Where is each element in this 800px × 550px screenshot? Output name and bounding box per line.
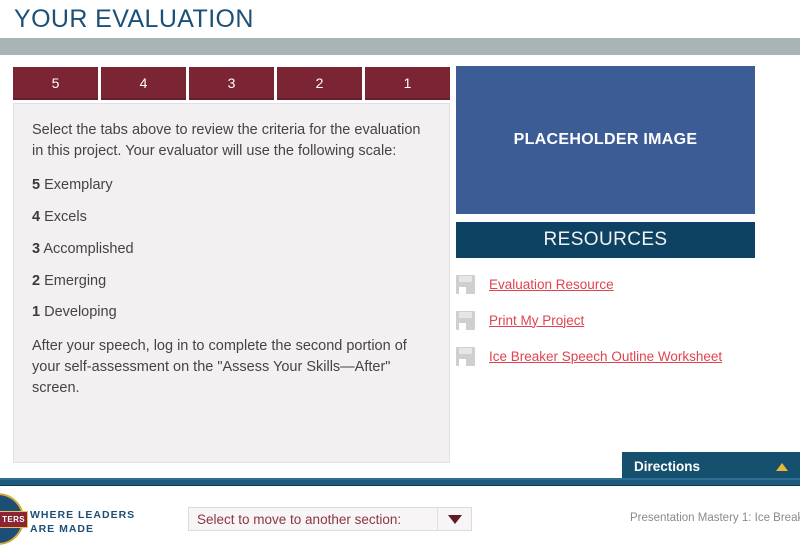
- toastmasters-logo: TERS INTERNATIONAL: [0, 493, 30, 545]
- scale-item-3: 3 Accomplished: [32, 240, 431, 259]
- scale-score-1: 1: [32, 304, 40, 320]
- floppy-disk-icon: [456, 311, 475, 330]
- page-title: YOUR EVALUATION: [14, 5, 254, 34]
- section-navigation-arrow-box[interactable]: [437, 508, 471, 530]
- scale-name-3: Accomplished: [43, 241, 133, 257]
- brand-tagline-line2: ARE MADE: [30, 522, 135, 536]
- list-item[interactable]: Print My Project: [456, 302, 786, 338]
- tab-score-2[interactable]: 2: [277, 67, 362, 100]
- scale-item-5: 5 Exemplary: [32, 176, 431, 195]
- scale-name-4: Excels: [44, 209, 87, 225]
- closing-paragraph: After your speech, log in to complete th…: [32, 336, 431, 399]
- directions-label: Directions: [634, 459, 776, 474]
- footer-divider: [0, 478, 800, 486]
- resource-link-ice-breaker-worksheet[interactable]: Ice Breaker Speech Outline Worksheet: [489, 349, 722, 364]
- tab-score-1[interactable]: 1: [365, 67, 450, 100]
- scale-score-5: 5: [32, 177, 40, 193]
- header-accent-band: [0, 38, 800, 55]
- scale-name-1: Developing: [44, 304, 117, 320]
- scale-name-5: Exemplary: [44, 177, 113, 193]
- scale-score-4: 4: [32, 209, 40, 225]
- resources-header: RESOURCES: [456, 222, 755, 258]
- section-navigation-value: Select to move to another section:: [189, 512, 437, 527]
- resource-link-print-my-project[interactable]: Print My Project: [489, 313, 584, 328]
- course-title-label: Presentation Mastery 1: Ice Break: [630, 512, 800, 524]
- placeholder-image-label: PLACEHOLDER IMAGE: [514, 131, 698, 149]
- brand-tagline-line1: WHERE LEADERS: [30, 508, 135, 522]
- scale-item-2: 2 Emerging: [32, 272, 431, 291]
- scale-item-4: 4 Excels: [32, 208, 431, 227]
- criteria-tab-strip: 5 4 3 2 1: [13, 67, 450, 100]
- caret-up-icon[interactable]: [776, 463, 788, 471]
- floppy-disk-icon: [456, 347, 475, 366]
- logo-banner: TERS: [0, 511, 28, 528]
- scale-name-2: Emerging: [44, 273, 106, 289]
- logo-subbanner: INTERNATIONAL: [0, 528, 8, 533]
- section-navigation-dropdown[interactable]: Select to move to another section:: [188, 507, 472, 531]
- scale-item-1: 1 Developing: [32, 303, 431, 322]
- placeholder-image: PLACEHOLDER IMAGE: [456, 66, 755, 214]
- list-item[interactable]: Evaluation Resource: [456, 266, 786, 302]
- directions-toggle-button[interactable]: Directions: [622, 452, 800, 481]
- evaluation-content-panel: Select the tabs above to review the crit…: [13, 103, 450, 463]
- resources-heading-label: RESOURCES: [544, 229, 668, 251]
- brand-tagline: WHERE LEADERS ARE MADE: [30, 508, 135, 536]
- intro-paragraph: Select the tabs above to review the crit…: [32, 120, 431, 162]
- caret-down-icon[interactable]: [448, 515, 462, 524]
- tab-score-4[interactable]: 4: [101, 67, 186, 100]
- tab-score-3[interactable]: 3: [189, 67, 274, 100]
- floppy-disk-icon: [456, 275, 475, 294]
- scale-score-3: 3: [32, 241, 40, 257]
- resource-link-evaluation-resource[interactable]: Evaluation Resource: [489, 277, 614, 292]
- tab-score-5[interactable]: 5: [13, 67, 98, 100]
- scale-score-2: 2: [32, 273, 40, 289]
- list-item[interactable]: Ice Breaker Speech Outline Worksheet: [456, 338, 786, 374]
- resource-list: Evaluation Resource Print My Project Ice…: [456, 266, 786, 374]
